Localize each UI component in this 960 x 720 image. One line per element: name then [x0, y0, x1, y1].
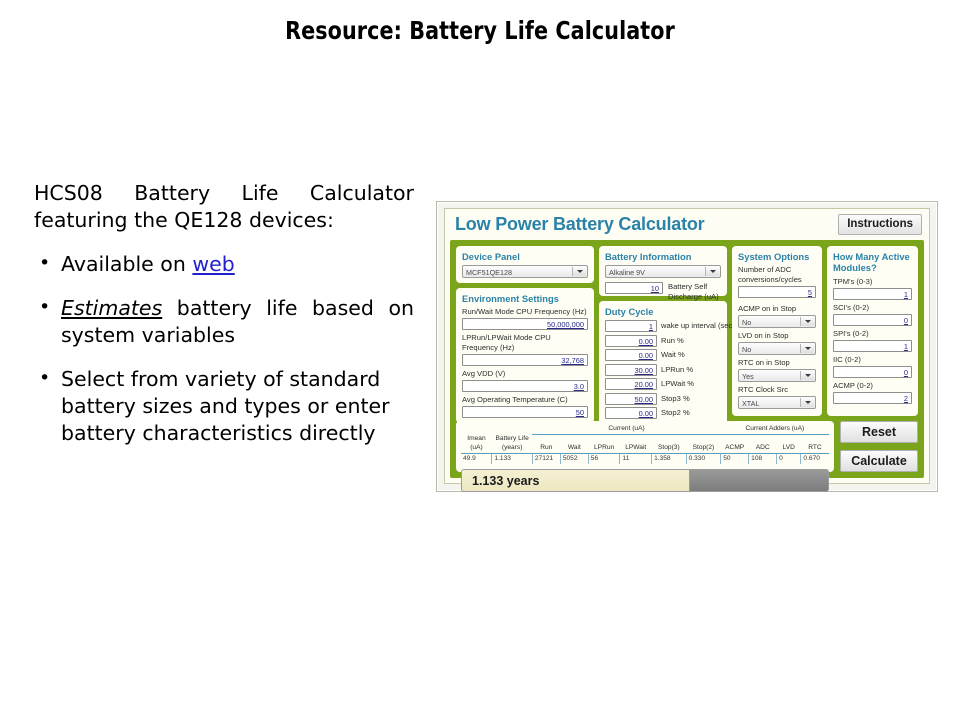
col-header-stop3-1 — [652, 435, 687, 445]
adc-conversions-input[interactable]: 5 — [738, 286, 816, 298]
acmp-modules-label: ACMP (0-2) — [833, 381, 912, 391]
action-button-column: Reset Calculate — [840, 421, 918, 472]
battery-type-select[interactable]: Alkaline 9V — [605, 265, 721, 278]
acmp-modules-input[interactable]: 2 — [833, 392, 912, 404]
env-label-avg-temp: Avg Operating Temperature (C) — [462, 395, 588, 405]
col-header-run-1 — [532, 435, 560, 445]
calculator-body: Device Panel MCF51QE128 Environment Sett… — [450, 240, 924, 478]
env-input-lprun-lpwait-freq[interactable]: 32,768 — [462, 354, 588, 366]
column-battery-duty: Battery Information Alkaline 9V 10 Batte… — [599, 246, 727, 416]
bullet-glyph: • — [39, 365, 50, 392]
duty-row-lpwait: 20.00 LPWait % — [605, 378, 721, 390]
rtc-clock-src-label: RTC Clock Src — [738, 385, 816, 395]
table-header-row-2: (uA) (years) Run Wait LPRun LPWait Stop(… — [461, 444, 829, 454]
lvd-stop-value: No — [742, 345, 751, 354]
page-title: Resource: Battery Life Calculator — [38, 16, 921, 45]
device-select[interactable]: MCF51QE128 — [462, 265, 588, 278]
rtc-stop-label: RTC on in Stop — [738, 358, 816, 368]
col-header-adc-1 — [749, 435, 777, 445]
rtc-clock-src-value: XTAL — [742, 399, 759, 408]
results-table: Current (uA) Current Adders (uA) Imean B… — [461, 425, 829, 464]
bullet-glyph: • — [39, 294, 50, 321]
col-header-stop2: Stop(2) — [686, 444, 721, 454]
duty-row-run: 0.00 Run % — [605, 335, 721, 347]
chevron-down-icon[interactable] — [705, 267, 719, 276]
calculate-button[interactable]: Calculate — [840, 450, 918, 472]
spi-label: SPI's (0-2) — [833, 329, 912, 339]
group-header-current: Current (uA) — [532, 425, 720, 435]
col-header-stop3: Stop(3) — [652, 444, 687, 454]
list-item-available: • Available on web — [34, 251, 414, 278]
value-imean: 49.9 — [461, 454, 492, 465]
value-lvd: 0 — [777, 454, 801, 465]
acmp-stop-value: No — [742, 318, 751, 327]
chevron-down-icon[interactable] — [800, 371, 814, 380]
col-header-lpwait: LPWait — [620, 444, 652, 454]
col-header-battery-life-1: Battery Life — [492, 435, 532, 445]
env-label-lprun-lpwait-freq: LPRun/LPWait Mode CPU Frequency (Hz) — [462, 333, 588, 353]
active-modules-card: How Many Active Modules? TPM's (0-3) 1 S… — [827, 246, 918, 416]
spi-input[interactable]: 1 — [833, 340, 912, 352]
duty-input-lprun[interactable]: 30.00 — [605, 364, 657, 376]
chevron-down-icon[interactable] — [800, 398, 814, 407]
col-header-run: Run — [532, 444, 560, 454]
bullet-list: • Available on web • Estimates battery l… — [34, 251, 414, 447]
iic-input[interactable]: 0 — [833, 366, 912, 378]
self-discharge-row: 10 Battery Self Discharge (uA) — [605, 282, 721, 301]
col-header-acmp: ACMP — [721, 444, 749, 454]
duty-input-stop2[interactable]: 0.00 — [605, 407, 657, 419]
col-header-lprun-1 — [588, 435, 620, 445]
value-battery-life: 1.133 — [492, 454, 532, 465]
value-acmp: 50 — [721, 454, 749, 465]
env-input-avg-vdd[interactable]: 3.0 — [462, 380, 588, 392]
col-header-rtc-1 — [801, 435, 829, 445]
duty-input-stop3[interactable]: 50.00 — [605, 393, 657, 405]
slide-root: Resource: Battery Life Calculator HCS08 … — [0, 0, 960, 720]
system-options-card: System Options Number of ADC conversions… — [732, 246, 822, 416]
value-run: 27121 — [532, 454, 560, 465]
battery-life-progress-bar: 1.133 years — [461, 469, 829, 492]
col-header-adc: ADC — [749, 444, 777, 454]
acmp-stop-select[interactable]: No — [738, 315, 816, 328]
acmp-stop-label: ACMP on in Stop — [738, 304, 816, 314]
table-row: 49.9 1.133 27121 5052 56 11 1.358 0.330 … — [461, 454, 829, 465]
col-header-lvd-1 — [777, 435, 801, 445]
col-header-imean: (uA) — [461, 444, 492, 454]
panel-row: Device Panel MCF51QE128 Environment Sett… — [456, 246, 918, 416]
tpm-input[interactable]: 1 — [833, 288, 912, 300]
list-item-estimates: • Estimates battery life based on system… — [34, 295, 414, 349]
table-group-header-row: Current (uA) Current Adders (uA) — [461, 425, 829, 435]
duty-label-stop2: Stop2 % — [661, 408, 690, 418]
chevron-down-icon[interactable] — [800, 344, 814, 353]
value-lpwait: 11 — [620, 454, 652, 465]
duty-input-wakeup[interactable]: 1 — [605, 320, 657, 332]
lvd-stop-select[interactable]: No — [738, 342, 816, 355]
duty-input-wait[interactable]: 0.00 — [605, 349, 657, 361]
column-device-environment: Device Panel MCF51QE128 Environment Sett… — [456, 246, 594, 416]
value-rtc: 0.670 — [801, 454, 829, 465]
col-header-lprun: LPRun — [588, 444, 620, 454]
value-stop3: 1.358 — [652, 454, 687, 465]
battery-calculator-screenshot: Low Power Battery Calculator Instruction… — [436, 201, 938, 492]
bullet-text-prefix: Available on — [61, 252, 192, 276]
body-copy: HCS08 Battery Life Calculator featuring … — [34, 180, 414, 447]
progress-label: 1.133 years — [472, 470, 539, 491]
battery-information-card: Battery Information Alkaline 9V 10 Batte… — [599, 246, 727, 296]
duty-label-run: Run % — [661, 336, 684, 346]
environment-settings-title: Environment Settings — [462, 293, 588, 304]
duty-row-wakeup: 1 wake up interval (sec) — [605, 320, 721, 332]
results-section: Current (uA) Current Adders (uA) Imean B… — [456, 421, 918, 472]
group-header-current-adders: Current Adders (uA) — [721, 425, 829, 435]
lead-paragraph: HCS08 Battery Life Calculator featuring … — [34, 180, 414, 234]
col-header-rtc: RTC — [801, 444, 829, 454]
sci-input[interactable]: 0 — [833, 314, 912, 326]
table-header-row-1: Imean Battery Life — [461, 435, 829, 445]
iic-label: IIC (0-2) — [833, 355, 912, 365]
col-header-battery-life: (years) — [492, 444, 532, 454]
env-label-avg-vdd: Avg VDD (V) — [462, 369, 588, 379]
reset-button[interactable]: Reset — [840, 421, 918, 443]
calculator-window: Low Power Battery Calculator Instruction… — [444, 208, 930, 484]
col-header-wait-1 — [560, 435, 588, 445]
duty-label-stop3: Stop3 % — [661, 394, 690, 404]
calculator-header: Low Power Battery Calculator Instruction… — [445, 209, 929, 239]
col-header-imean-1: Imean — [461, 435, 492, 445]
value-stop2: 0.330 — [686, 454, 721, 465]
value-lprun: 56 — [588, 454, 620, 465]
environment-settings-card: Environment Settings Run/Wait Mode CPU F… — [456, 288, 594, 423]
chevron-down-icon[interactable] — [800, 317, 814, 326]
lvd-stop-label: LVD on in Stop — [738, 331, 816, 341]
adc-conversions-label: Number of ADC conversions/cycles — [738, 265, 816, 285]
duty-cycle-card: Duty Cycle 1 wake up interval (sec) 0.00… — [599, 301, 727, 427]
duty-row-stop3: 50.00 Stop3 % — [605, 393, 721, 405]
self-discharge-input[interactable]: 10 — [605, 282, 663, 294]
duty-label-lprun: LPRun % — [661, 365, 693, 375]
bullet-text-select: Select from variety of standard battery … — [61, 367, 390, 445]
results-card: Current (uA) Current Adders (uA) Imean B… — [456, 421, 834, 472]
device-panel-card: Device Panel MCF51QE128 — [456, 246, 594, 283]
tpm-label: TPM's (0-3) — [833, 277, 912, 287]
duty-input-lpwait[interactable]: 20.00 — [605, 378, 657, 390]
value-adc: 108 — [749, 454, 777, 465]
bullet-glyph: • — [39, 250, 50, 277]
duty-input-run[interactable]: 0.00 — [605, 335, 657, 347]
sci-label: SCI's (0-2) — [833, 303, 912, 313]
duty-row-wait: 0.00 Wait % — [605, 349, 721, 361]
env-input-run-wait-freq[interactable]: 50,000,000 — [462, 318, 588, 330]
calculator-title: Low Power Battery Calculator — [455, 214, 704, 235]
instructions-button[interactable]: Instructions — [838, 214, 922, 235]
col-header-lvd: LVD — [777, 444, 801, 454]
value-wait: 5052 — [560, 454, 588, 465]
duty-label-lpwait: LPWait % — [661, 379, 694, 389]
system-options-title: System Options — [738, 251, 816, 262]
battery-type-value: Alkaline 9V — [609, 268, 645, 277]
col-header-stop2-1 — [686, 435, 721, 445]
duty-row-stop2: 0.00 Stop2 % — [605, 407, 721, 419]
rtc-clock-src-select[interactable]: XTAL — [738, 396, 816, 409]
device-select-value: MCF51QE128 — [466, 268, 512, 277]
duty-cycle-title: Duty Cycle — [605, 306, 721, 317]
battery-information-title: Battery Information — [605, 251, 721, 262]
emphasis-estimates: Estimates — [61, 296, 162, 320]
rtc-stop-value: Yes — [742, 372, 754, 381]
env-input-avg-temp[interactable]: 50 — [462, 406, 588, 418]
duty-row-lprun: 30.00 LPRun % — [605, 364, 721, 376]
duty-label-wakeup: wake up interval (sec) — [661, 321, 735, 331]
chevron-down-icon[interactable] — [572, 267, 586, 276]
group-header-blank — [461, 425, 532, 435]
list-item-select: • Select from variety of standard batter… — [34, 366, 414, 447]
device-panel-title: Device Panel — [462, 251, 588, 262]
duty-label-wait: Wait % — [661, 350, 685, 360]
rtc-stop-select[interactable]: Yes — [738, 369, 816, 382]
web-link[interactable]: web — [192, 252, 234, 276]
col-header-wait: Wait — [560, 444, 588, 454]
self-discharge-label: Battery Self Discharge (uA) — [668, 282, 721, 301]
col-header-acmp-1 — [721, 435, 749, 445]
env-label-run-wait-freq: Run/Wait Mode CPU Frequency (Hz) — [462, 307, 588, 317]
col-header-lpwait-1 — [620, 435, 652, 445]
active-modules-title: How Many Active Modules? — [833, 251, 912, 273]
